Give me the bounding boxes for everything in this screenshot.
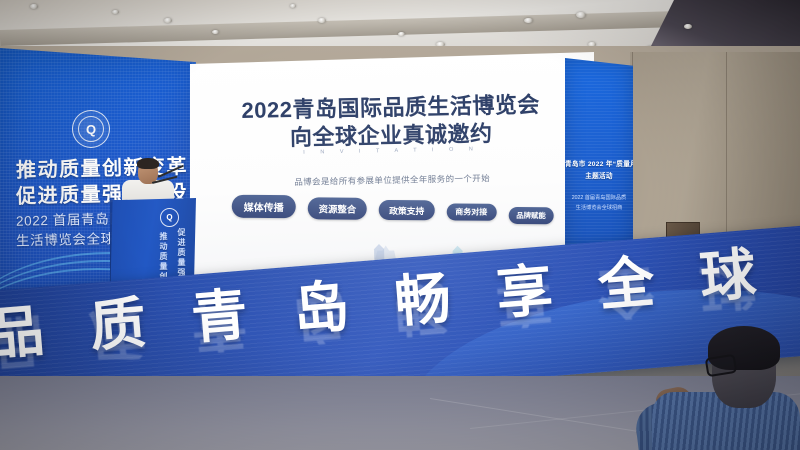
ceiling-spot-light [30,4,38,9]
right-banner-subline-2: 生活博览会全球招商 [565,204,633,211]
right-banner-subline-1: 2022 首届青岛国际品质 [565,194,633,201]
ceiling-spot-light [318,18,326,23]
ceiling-spot-light [212,30,219,34]
pill-brand-empowerment: 品牌赋能 [508,207,554,224]
ceiling-spot-light [290,4,296,8]
pill-policy-support: 政策支持 [379,200,434,220]
screen-pill-row: 媒体传播 资源整合 政策支持 商务对接 品牌赋能 [191,194,595,224]
right-banner-title-1: 青岛市 2022 年“质量月” [565,158,633,168]
ceiling-spot-light [576,12,586,18]
pill-media-communication: 媒体传播 [232,195,296,219]
emblem-glyph: Q [78,116,104,142]
podium-emblem-icon: Q [160,208,179,227]
pill-resource-integration: 资源整合 [308,197,368,219]
ceiling-spot-light [398,32,405,36]
ceiling-spot-light [164,18,172,23]
ceiling-dark-soffit [650,0,800,48]
reflection-char: 全 [593,228,656,322]
screen-subtitle: 品博会是给所有参展单位提供全年服务的一个开始 [190,170,594,190]
pill-business-matchmaking: 商务对接 [446,203,496,220]
right-banner-title-2: 主题活动 [565,170,633,180]
reflection-char: 享 [491,236,554,330]
reflection-char: 青 [186,261,249,355]
ceiling-spot-light [684,24,692,29]
reflection-char: 畅 [389,244,452,338]
reflection-char: 品 [0,277,46,371]
reflection-char: 岛 [288,252,351,346]
qingdao-quality-emblem-icon: Q [72,110,110,148]
reflection-char: 球 [694,220,757,314]
reflection-char: 质 [84,269,147,363]
ceiling-spot-light [524,18,533,23]
speaker-hair [137,158,159,169]
ceiling-spot-light [112,10,119,14]
conference-stage-photo: Q 推动质量创新变革 促进质量强市建设 2022 首届青岛国际品质 生活博览会全… [0,0,800,450]
